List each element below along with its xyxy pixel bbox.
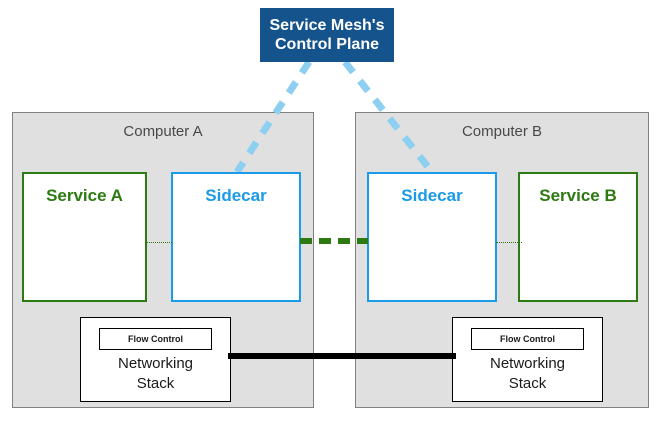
sidecar-a-label: Sidecar	[173, 186, 299, 206]
business-logic-a-to-circuit-breaker-a-connector	[146, 242, 172, 243]
service-a-box: Service A	[22, 172, 147, 302]
networking-stack-b-line1: Networking	[453, 354, 602, 374]
computer-a-label: Computer A	[13, 123, 313, 140]
networking-stack-to-networking-stack-connector	[228, 353, 456, 359]
networking-stack-b-line2: Stack	[453, 374, 602, 394]
networking-stack-a-box: Flow Control Networking Stack	[80, 317, 231, 402]
networking-stack-b-label: Networking Stack	[453, 354, 602, 394]
sidecar-b-label: Sidecar	[369, 186, 495, 206]
service-a-label: Service A	[24, 186, 145, 206]
service-b-label: Service B	[520, 186, 636, 206]
networking-stack-a-line2: Stack	[81, 374, 230, 394]
control-plane-box: Service Mesh's Control Plane	[260, 8, 394, 62]
control-plane-title-line1: Service Mesh's	[266, 16, 389, 35]
circuit-breaker-b-to-business-logic-b-connector	[496, 242, 522, 243]
networking-stack-a-label: Networking Stack	[81, 354, 230, 394]
sidecar-a-box: Sidecar	[171, 172, 301, 302]
networking-stack-a-line1: Networking	[81, 354, 230, 374]
control-plane-title-line2: Control Plane	[266, 35, 389, 54]
networking-stack-b-box: Flow Control Networking Stack	[452, 317, 603, 402]
sidecar-b-box: Sidecar	[367, 172, 497, 302]
computer-b-label: Computer B	[356, 123, 648, 140]
flow-control-b-box: Flow Control	[471, 328, 584, 350]
flow-control-a-box: Flow Control	[99, 328, 212, 350]
diagram-canvas: Service Mesh's Control Plane Computer A …	[0, 0, 661, 421]
sidecar-to-sidecar-connector	[300, 238, 368, 244]
service-b-box: Service B	[518, 172, 638, 302]
